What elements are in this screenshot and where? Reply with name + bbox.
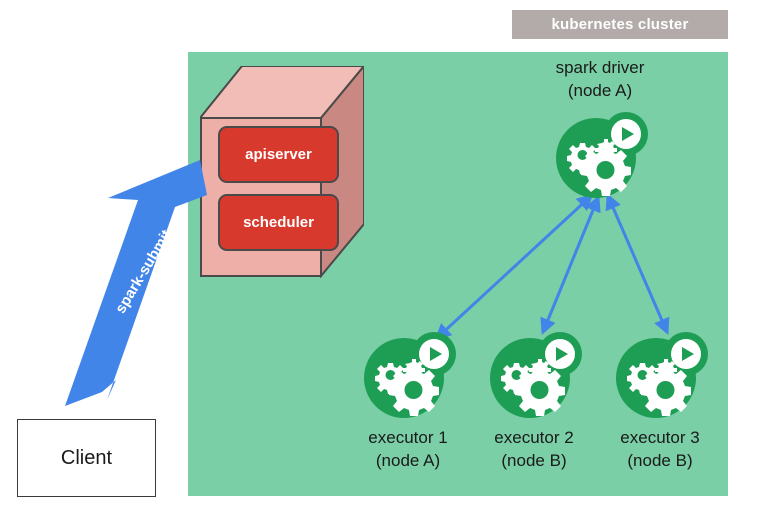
node-executor-3-label: executor 3 (node B)	[620, 426, 699, 472]
node-executor-2-subtitle: (node B)	[494, 449, 573, 472]
cluster-banner-label: kubernetes cluster	[552, 16, 689, 33]
gears-play-node-icon	[360, 330, 456, 422]
spark-submit-label: spark-submit	[101, 211, 187, 334]
node-executor-2-title: executor 2	[494, 428, 573, 447]
node-executor-2[interactable]: executor 2 (node B)	[486, 330, 582, 422]
gears-play-node-icon	[612, 330, 708, 422]
node-spark-driver[interactable]: spark driver (node A)	[552, 110, 648, 202]
node-executor-1-subtitle: (node A)	[368, 449, 447, 472]
control-plane-component-scheduler[interactable]: scheduler	[218, 194, 339, 251]
component-scheduler-label: scheduler	[243, 214, 314, 231]
control-plane-component-apiserver[interactable]: apiserver	[218, 126, 339, 183]
control-plane-cube: apiserver scheduler	[200, 66, 364, 278]
node-executor-1-title: executor 1	[368, 428, 447, 447]
node-executor-1-label: executor 1 (node A)	[368, 426, 447, 472]
client-box[interactable]: Client	[17, 419, 156, 497]
node-executor-2-label: executor 2 (node B)	[494, 426, 573, 472]
gears-play-node-icon	[486, 330, 582, 422]
node-spark-driver-label: spark driver (node A)	[556, 56, 645, 102]
gears-play-node-icon	[552, 110, 648, 202]
node-executor-3-title: executor 3	[620, 428, 699, 447]
kubernetes-cluster-banner: kubernetes cluster	[512, 10, 728, 39]
client-label: Client	[61, 447, 112, 470]
node-spark-driver-subtitle: (node A)	[556, 79, 645, 102]
component-apiserver-label: apiserver	[245, 146, 312, 163]
node-spark-driver-title: spark driver	[556, 58, 645, 77]
node-executor-1[interactable]: executor 1 (node A)	[360, 330, 456, 422]
node-executor-3[interactable]: executor 3 (node B)	[612, 330, 708, 422]
node-executor-3-subtitle: (node B)	[620, 449, 699, 472]
